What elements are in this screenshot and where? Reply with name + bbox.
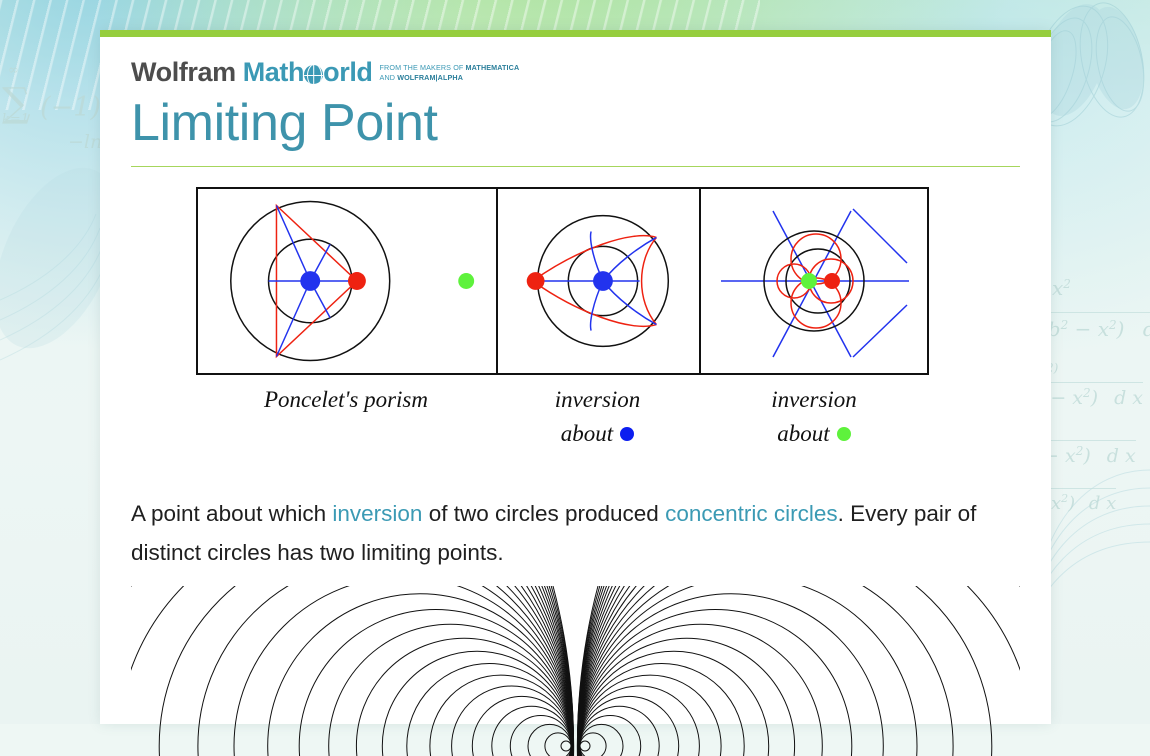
title-underline-rule — [131, 166, 1020, 167]
definition-text-2: of two circles produced — [422, 501, 665, 526]
globe-icon — [304, 65, 323, 84]
inversion-blue-diagram — [498, 189, 699, 373]
inversion-green-diagram — [701, 189, 927, 373]
background-formula-right-2: (b2 − x2) d x — [1040, 312, 1150, 341]
site-logo[interactable]: Wolfram Math orld FROM THE MAKERS OF MAT… — [131, 37, 1020, 86]
caption-inversion-blue: inversion about — [496, 383, 699, 450]
logo-world-text: orld — [323, 59, 372, 86]
link-inversion[interactable]: inversion — [332, 501, 422, 526]
caption-inversion-blue-line1: inversion — [555, 383, 641, 416]
background-formula-right-4: 2 − x2) d x — [1036, 382, 1143, 409]
content-card: Wolfram Math orld FROM THE MAKERS OF MAT… — [100, 30, 1051, 724]
background-formula-right-5: − x2) d x — [1043, 440, 1136, 467]
figure-strip — [196, 187, 929, 375]
tagline-line-2: AND WOLFRAM|ALPHA — [380, 73, 464, 82]
link-concentric-circles[interactable]: concentric circles — [665, 501, 838, 526]
card-top-accent-bar — [100, 30, 1051, 37]
definition-paragraph: A point about which inversion of two cir… — [131, 494, 1011, 572]
logo-tagline: FROM THE MAKERS OF MATHEMATICA AND WOLFR… — [380, 63, 520, 86]
figure-panel-poncelet — [198, 189, 498, 373]
logo-mathworld-text: Math orld — [243, 59, 373, 86]
caption-inversion-green-line1: inversion — [771, 383, 857, 416]
apollonian-circles-diagram — [131, 586, 1020, 756]
logo-wolfram-text: Wolfram — [131, 59, 236, 86]
background-formula-right-6: x2) d x — [1051, 488, 1116, 514]
apollonian-circles-figure — [131, 586, 1020, 756]
caption-inversion-blue-line2: about — [561, 417, 634, 450]
definition-text-1: A point about which — [131, 501, 332, 526]
page-title: Limiting Point — [131, 94, 1020, 152]
figure-captions: Poncelet's porism inversion about invers… — [196, 383, 929, 450]
caption-poncelet: Poncelet's porism — [196, 383, 496, 450]
tagline-line-1: FROM THE MAKERS OF MATHEMATICA — [380, 63, 520, 72]
figure-panel-inversion-green — [701, 189, 927, 373]
caption-poncelet-line1: Poncelet's porism — [264, 383, 428, 416]
blue-dot-icon — [620, 427, 634, 441]
figure-panel-inversion-blue — [498, 189, 701, 373]
caption-inversion-green-line2: about — [777, 417, 850, 450]
green-dot-icon — [837, 427, 851, 441]
caption-inversion-green: inversion about — [699, 383, 929, 450]
background-formula-right-1: x2 — [1052, 276, 1071, 300]
poncelet-diagram — [198, 189, 496, 373]
background-formula-left-tail: −ln — [68, 131, 102, 153]
logo-math-text: Math — [243, 59, 304, 86]
